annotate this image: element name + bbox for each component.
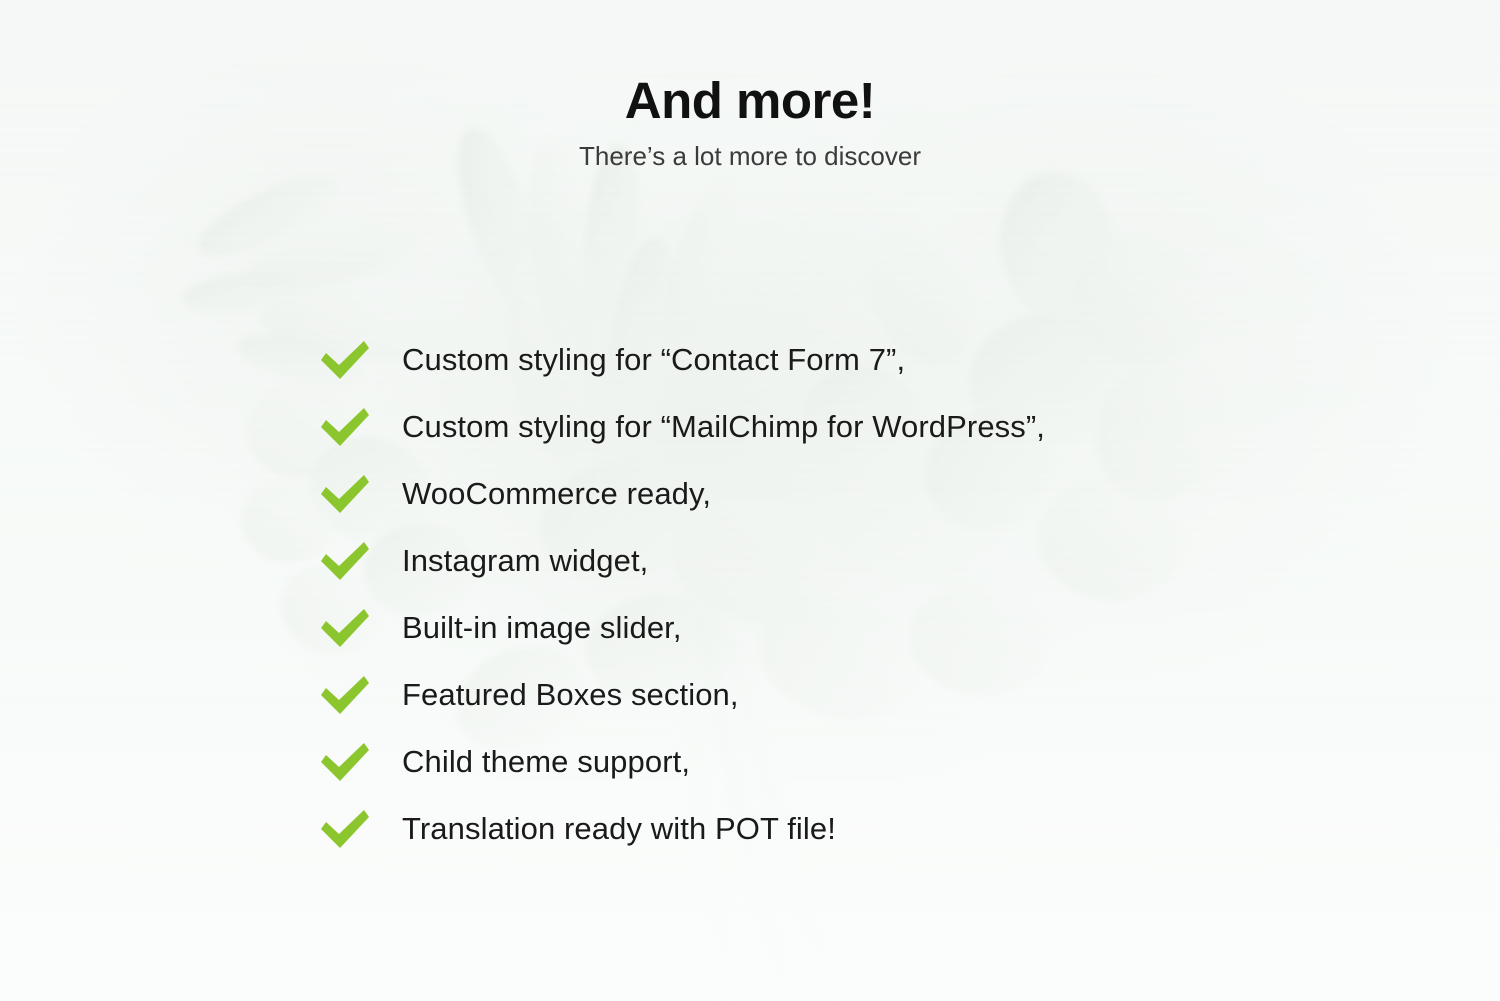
list-item-label: Custom styling for “Contact Form 7”,: [402, 344, 905, 375]
page-subtitle: There’s a lot more to discover: [0, 142, 1500, 171]
list-item-label: Instagram widget,: [402, 545, 648, 576]
list-item: Custom styling for “MailChimp for WordPr…: [318, 393, 1045, 460]
slide-root: And more! There’s a lot more to discover…: [0, 0, 1500, 1001]
check-icon: [318, 606, 372, 650]
list-item-label: Built-in image slider,: [402, 612, 682, 643]
list-item-label: WooCommerce ready,: [402, 478, 711, 509]
check-icon: [318, 539, 372, 583]
list-item-label: Featured Boxes section,: [402, 679, 739, 710]
check-icon: [318, 472, 372, 516]
slide-header: And more! There’s a lot more to discover: [0, 74, 1500, 171]
list-item: Instagram widget,: [318, 527, 1045, 594]
list-item: Custom styling for “Contact Form 7”,: [318, 326, 1045, 393]
list-item: Child theme support,: [318, 728, 1045, 795]
check-icon: [318, 807, 372, 851]
list-item: WooCommerce ready,: [318, 460, 1045, 527]
page-title: And more!: [0, 74, 1500, 128]
check-icon: [318, 673, 372, 717]
list-item: Featured Boxes section,: [318, 661, 1045, 728]
list-item-label: Translation ready with POT file!: [402, 813, 836, 844]
list-item: Translation ready with POT file!: [318, 795, 1045, 862]
list-item: Built-in image slider,: [318, 594, 1045, 661]
check-icon: [318, 740, 372, 784]
check-icon: [318, 338, 372, 382]
check-icon: [318, 405, 372, 449]
list-item-label: Custom styling for “MailChimp for WordPr…: [402, 411, 1045, 442]
feature-list: Custom styling for “Contact Form 7”, Cus…: [318, 326, 1045, 862]
list-item-label: Child theme support,: [402, 746, 690, 777]
